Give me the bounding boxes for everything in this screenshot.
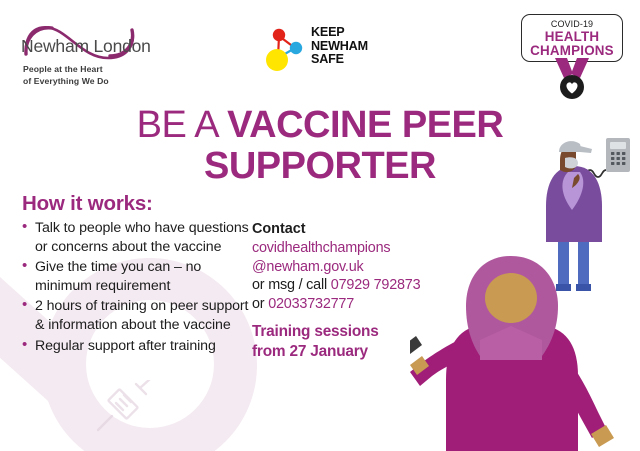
kns-line3: SAFE	[311, 52, 344, 66]
list-item: Talk to people who have questions or con…	[22, 219, 252, 256]
woman-face	[485, 273, 537, 323]
contact-landline-line: or 02033732777	[252, 295, 452, 314]
contact-heading: Contact	[252, 220, 452, 239]
kns-line2: NEWHAM	[311, 39, 368, 53]
keep-newham-safe-text: KEEP NEWHAM SAFE	[311, 26, 368, 67]
training-line2: from 27 January	[252, 343, 368, 360]
newham-tagline-line2: of Everything We Do	[23, 76, 109, 86]
how-it-works-heading: How it works:	[22, 192, 153, 216]
newham-wordmark: Newham London	[21, 36, 151, 57]
poster-canvas: Newham London People at the Heart of Eve…	[0, 0, 640, 451]
how-it-works-list: Talk to people who have questions or con…	[22, 219, 252, 357]
headline-bold-line1: VACCINE PEER	[227, 104, 503, 146]
medal-ribbon-heart-icon	[547, 58, 597, 100]
list-item: 2 hours of training on peer support & in…	[22, 297, 252, 334]
badge-health-label: HEALTH	[521, 29, 623, 44]
newham-tagline: People at the Heart of Everything We Do	[23, 64, 109, 87]
contact-landline-number[interactable]: 02033732777	[268, 296, 354, 312]
contact-mobile-line: or msg / call 07929 792873	[252, 276, 452, 295]
keep-newham-safe-logo: KEEP NEWHAM SAFE	[262, 22, 382, 76]
headline-light: BE A	[137, 104, 227, 146]
contact-email[interactable]: covidhealthchampions @newham.gov.uk	[252, 239, 452, 276]
training-line1: Training sessions	[252, 323, 379, 340]
kns-line1: KEEP	[311, 25, 345, 39]
headline-bold-line2: SUPPORTER	[204, 145, 436, 187]
page-title: BE A VACCINE PEER SUPPORTER	[0, 105, 640, 187]
syringe-icon	[92, 380, 158, 436]
training-sessions-note: Training sessions from 27 January	[252, 322, 452, 361]
keep-newham-safe-dots-icon	[262, 22, 310, 74]
contact-email-line1: covidhealthchampions	[252, 240, 390, 256]
contact-mobile-number[interactable]: 07929 792873	[331, 277, 421, 293]
newham-london-logo: Newham London People at the Heart of Eve…	[14, 16, 144, 92]
newham-tagline-line1: People at the Heart	[23, 64, 103, 74]
covid-health-champions-badge: COVID-19 HEALTH CHAMPIONS	[521, 14, 625, 100]
contact-block: Contact covidhealthchampions @newham.gov…	[252, 220, 452, 313]
badge-covid-label: COVID-19	[521, 19, 623, 29]
or-prefix: or	[252, 296, 268, 312]
contact-email-line2: @newham.gov.uk	[252, 259, 364, 275]
call-prefix: or msg / call	[252, 277, 331, 293]
list-item: Give the time you can – no minimum requi…	[22, 258, 252, 295]
badge-champions-label: CHAMPIONS	[521, 43, 623, 58]
list-item: Regular support after training	[22, 337, 252, 356]
